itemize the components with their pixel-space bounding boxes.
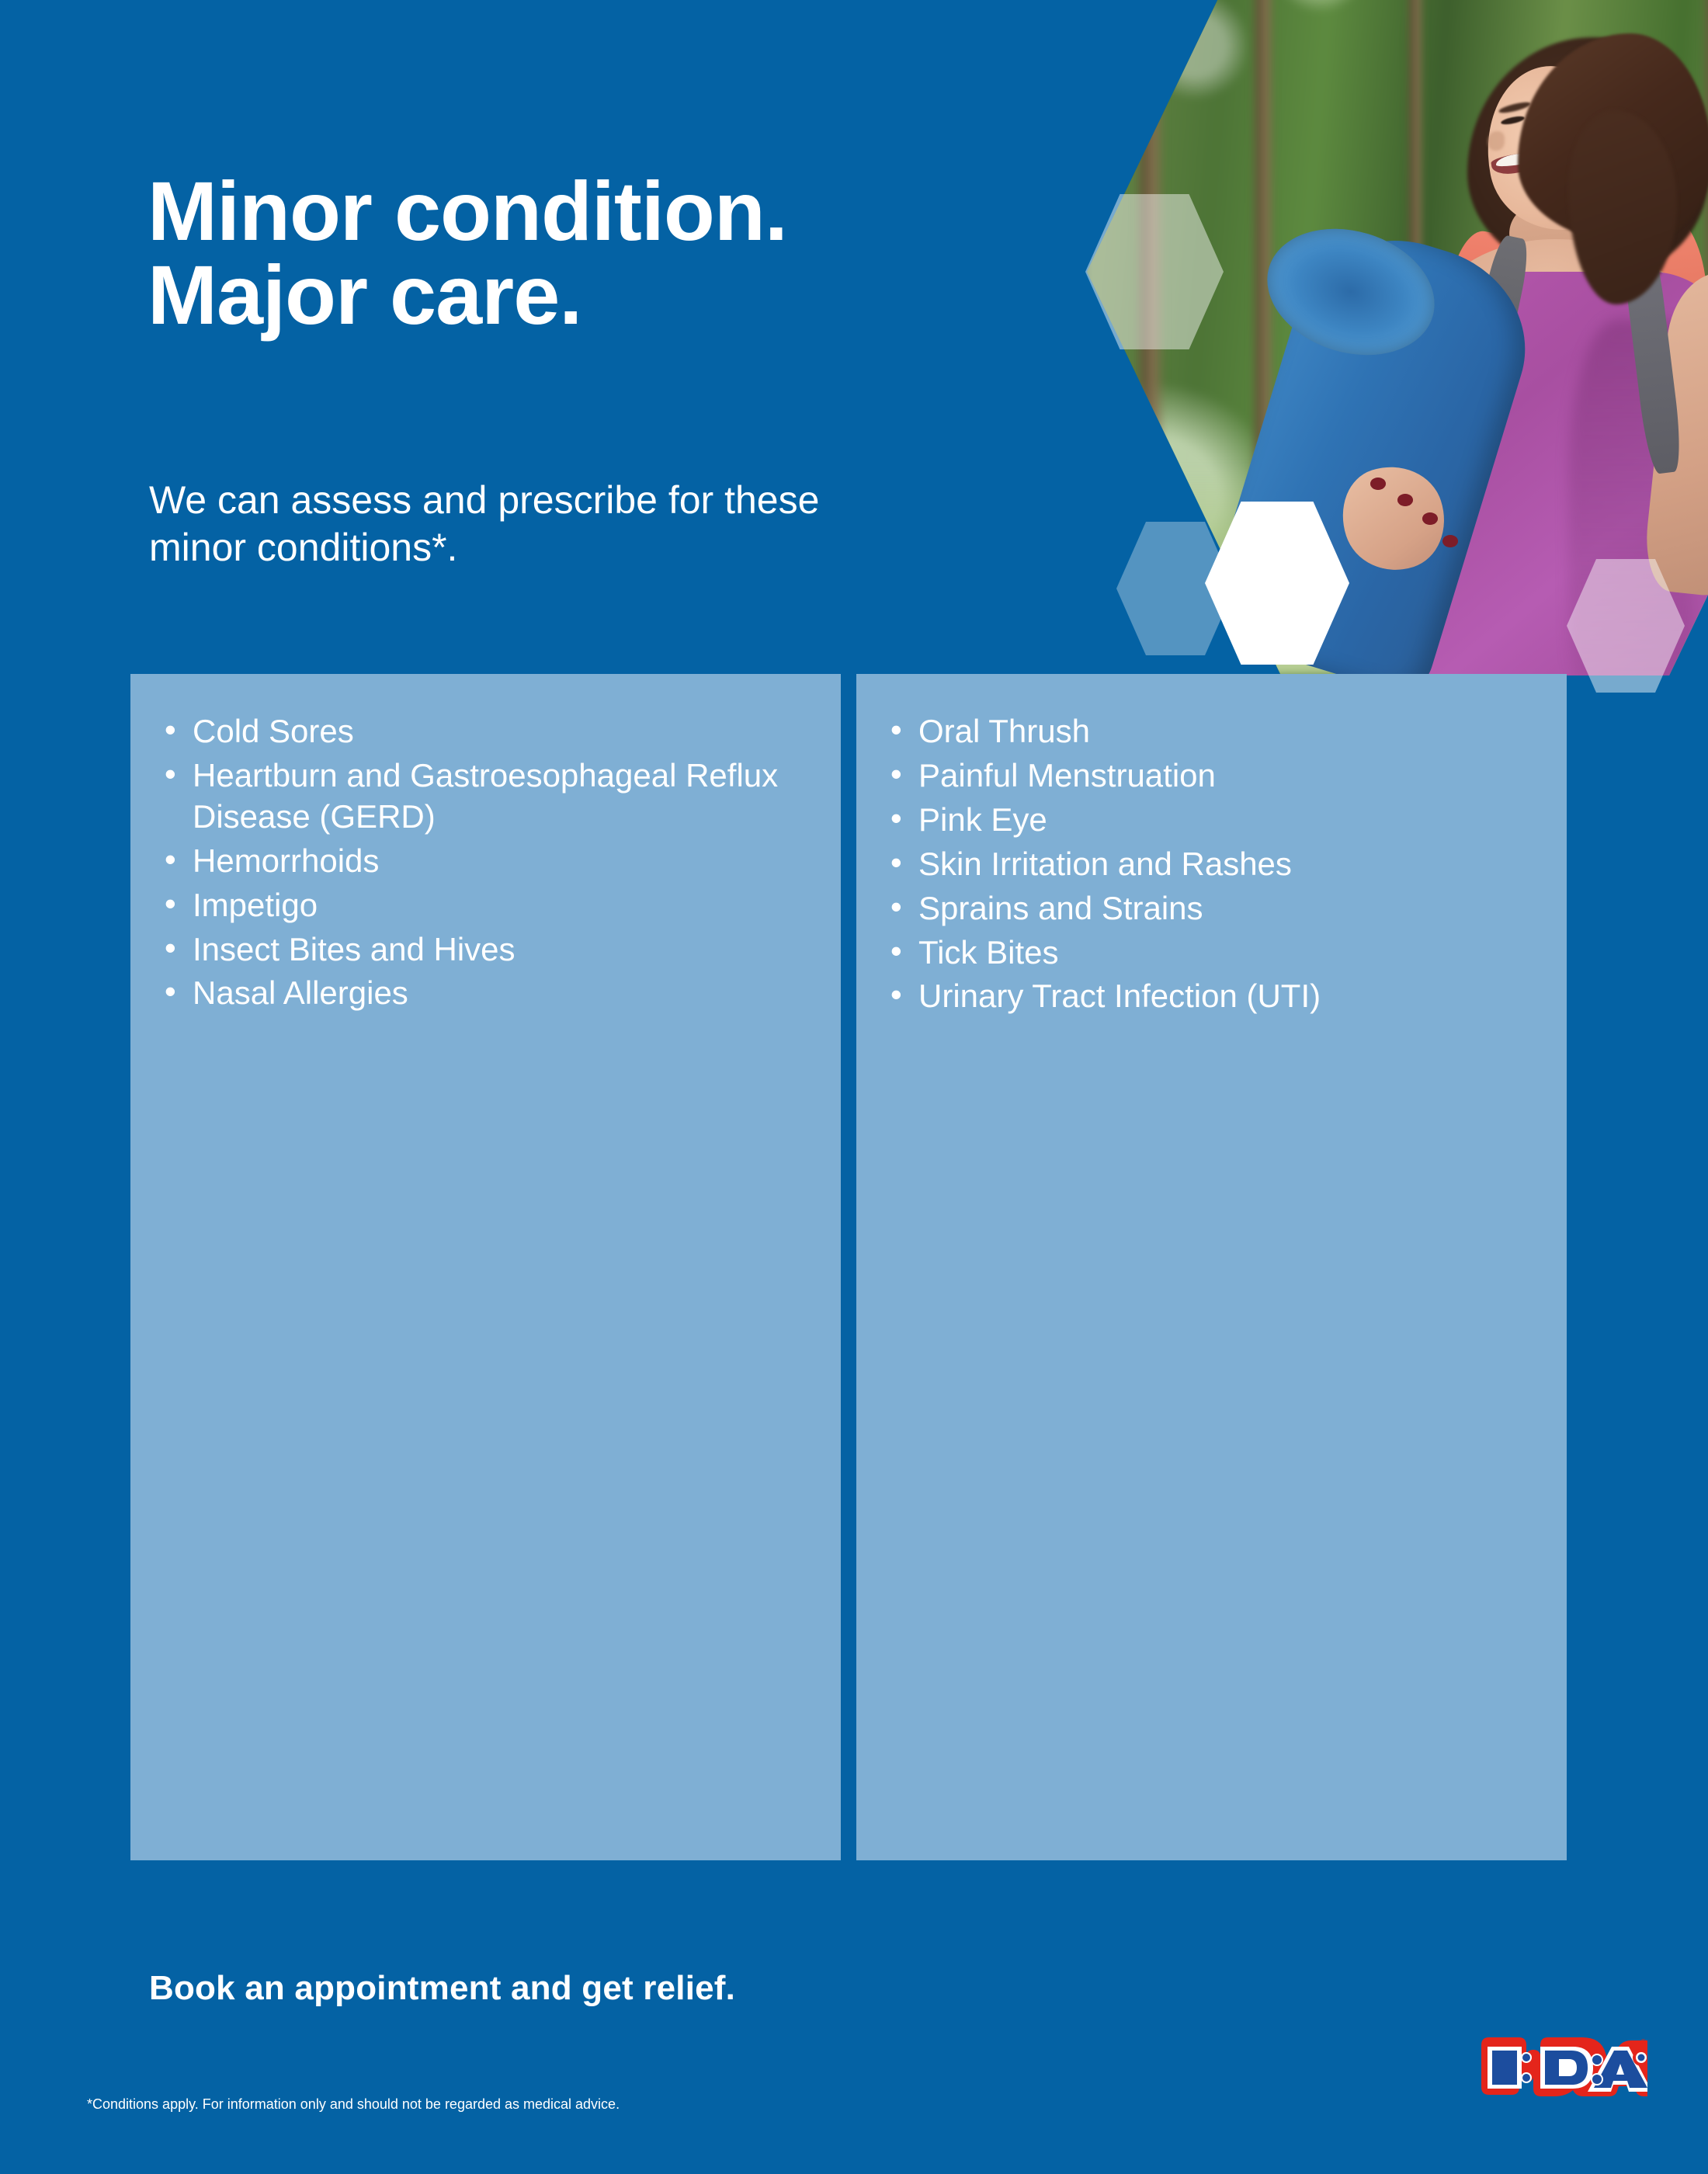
condition-list-item: Sprains and Strains xyxy=(884,888,1539,929)
condition-list-item: Urinary Tract Infection (UTI) xyxy=(884,976,1539,1017)
conditions-panel-left: Cold SoresHeartburn and Gastroesophageal… xyxy=(130,674,841,1860)
condition-list-item: Heartburn and Gastroesophageal Reflux Di… xyxy=(158,755,813,838)
subhead-line-2: minor conditions*. xyxy=(149,524,1050,571)
headline-line-2: Major care. xyxy=(148,253,1064,337)
condition-list-item: Tick Bites xyxy=(884,932,1539,974)
fineprint-disclaimer: *Conditions apply. For information only … xyxy=(87,2096,620,2113)
fingernail xyxy=(1370,478,1386,490)
page-subtitle: We can assess and prescribe for these mi… xyxy=(149,477,1050,571)
condition-list-item: Impetigo xyxy=(158,885,813,926)
fingernail xyxy=(1397,494,1413,506)
condition-list-item: Nasal Allergies xyxy=(158,973,813,1014)
fingernail xyxy=(1422,512,1438,525)
condition-list-item: Oral Thrush xyxy=(884,711,1539,752)
condition-list-item: Insect Bites and Hives xyxy=(158,929,813,971)
cta-text: Book an appointment and get relief. xyxy=(149,1969,735,2008)
ida-logo: ® xyxy=(1475,2034,1647,2101)
conditions-list-left: Cold SoresHeartburn and Gastroesophageal… xyxy=(158,711,813,1014)
ida-logo-shape xyxy=(1481,2037,1647,2096)
page-title: Minor condition. Major care. xyxy=(148,169,1064,337)
conditions-list-right: Oral ThrushPainful MenstruationPink EyeS… xyxy=(884,711,1539,1017)
condition-list-item: Hemorrhoids xyxy=(158,841,813,882)
conditions-panel-right: Oral ThrushPainful MenstruationPink EyeS… xyxy=(856,674,1567,1860)
condition-list-item: Painful Menstruation xyxy=(884,755,1539,797)
condition-list-item: Pink Eye xyxy=(884,800,1539,841)
subhead-line-1: We can assess and prescribe for these xyxy=(149,477,1050,524)
condition-list-item: Skin Irritation and Rashes xyxy=(884,844,1539,885)
registered-trademark-icon: ® xyxy=(1640,2038,1647,2047)
fingernail xyxy=(1442,535,1458,547)
headline-line-1: Minor condition. xyxy=(148,169,1064,253)
conditions-panels: Cold SoresHeartburn and Gastroesophageal… xyxy=(130,674,1567,1860)
poster-canvas: Minor condition. Major care. We can asse… xyxy=(0,0,1708,2174)
condition-list-item: Cold Sores xyxy=(158,711,813,752)
nose xyxy=(1488,131,1505,151)
